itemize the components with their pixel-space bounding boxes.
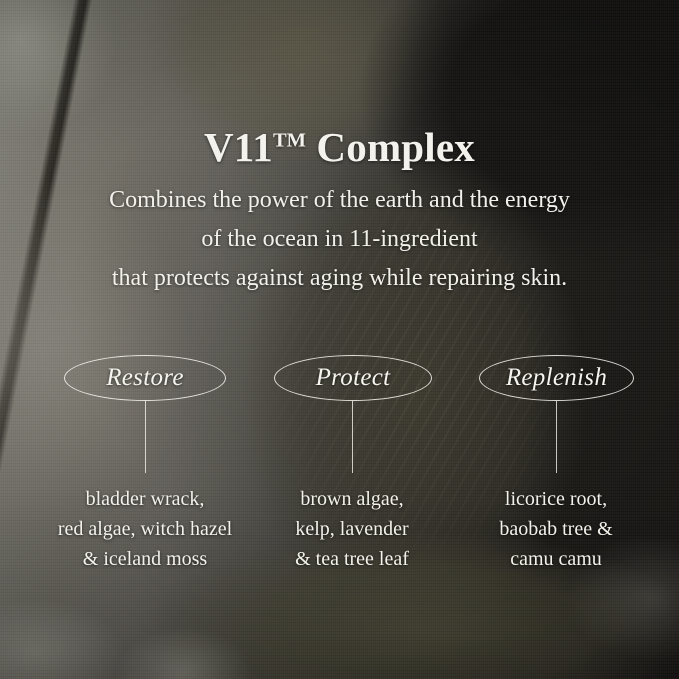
content-layer: V11TM Complex Combines the power of the …	[0, 0, 679, 679]
page-title-suffix: Complex	[306, 124, 475, 170]
ingredient-line: camu camu	[499, 544, 612, 574]
connector-line-protect	[352, 401, 353, 473]
ingredient-line: & tea tree leaf	[295, 544, 409, 574]
ingredient-list-protect: brown algae, kelp, lavender & tea tree l…	[295, 484, 409, 574]
badge-restore[interactable]: Restore	[64, 355, 226, 401]
badge-replenish[interactable]: Replenish	[479, 355, 634, 401]
page-subtitle: Combines the power of the earth and the …	[0, 181, 679, 298]
ingredient-list-row: bladder wrack, red algae, witch hazel & …	[0, 484, 679, 584]
ingredient-line: red algae, witch hazel	[58, 514, 232, 544]
ingredient-line: baobab tree &	[499, 514, 612, 544]
subtitle-line: of the ocean in 11-ingredient	[0, 220, 679, 259]
ingredient-line: kelp, lavender	[295, 514, 409, 544]
badge-protect[interactable]: Protect	[274, 355, 432, 401]
ingredient-line: & iceland moss	[58, 544, 232, 574]
ingredient-list-restore: bladder wrack, red algae, witch hazel & …	[58, 484, 232, 574]
ingredient-line: brown algae,	[295, 484, 409, 514]
ingredient-line: bladder wrack,	[58, 484, 232, 514]
trademark-symbol: TM	[273, 130, 306, 152]
ingredient-line: licorice root,	[499, 484, 612, 514]
page-title: V11TM Complex	[0, 127, 679, 168]
connector-line-restore	[145, 401, 146, 473]
ingredient-list-replenish: licorice root, baobab tree & camu camu	[499, 484, 612, 574]
connector-line-replenish	[556, 401, 557, 473]
pillar-badge-row: Restore Protect Replenish	[0, 355, 679, 405]
page-title-main: V11	[204, 124, 273, 170]
infographic-canvas: V11TM Complex Combines the power of the …	[0, 0, 679, 679]
subtitle-line: that protects against aging while repair…	[0, 259, 679, 298]
subtitle-line: Combines the power of the earth and the …	[0, 181, 679, 220]
